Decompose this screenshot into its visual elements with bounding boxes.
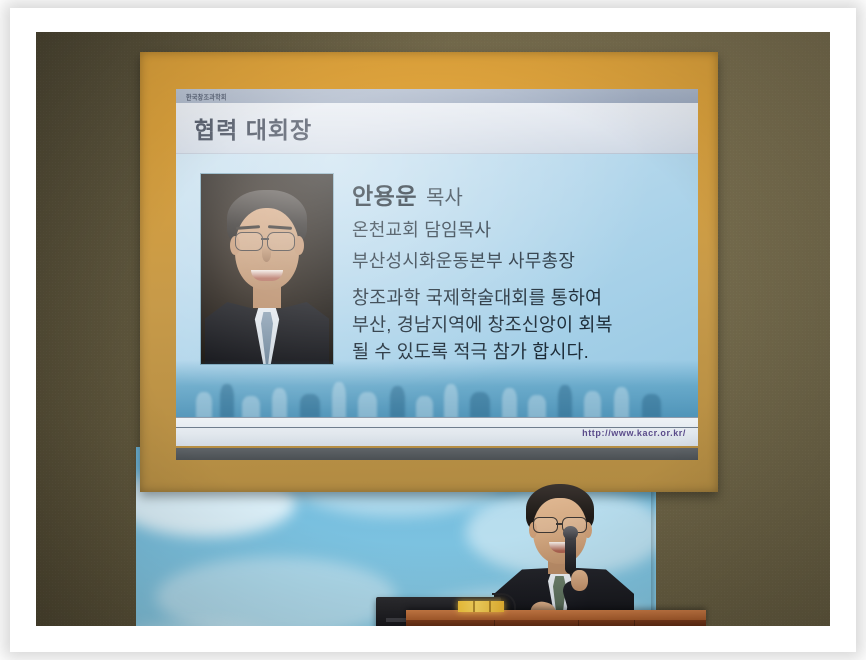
slide-name-block: 안용운 목사 온천교회 담임목사 부산성시화운동본부 사무총장 <box>352 177 684 273</box>
wooden-podium <box>406 610 706 626</box>
podium-panel-seam <box>578 620 579 626</box>
slide-footer: http://www.kacr.or.kr/ <box>176 417 698 446</box>
podium-top-surface <box>406 610 706 620</box>
portrait-eyeglasses <box>267 232 295 251</box>
speaker-hand <box>571 570 588 591</box>
photo-frame: 한국창조과학회 협력 대회장 <box>0 0 866 660</box>
podium-panel-seam <box>634 620 635 626</box>
screen-bottom-bar <box>176 448 698 460</box>
podium-indicator-lights <box>458 601 504 612</box>
body-line: 부산, 경남지역에 창조신앙이 회복 <box>352 312 690 339</box>
body-line: 창조과학 국제학술대회를 통하여 <box>352 285 690 312</box>
footer-url: http://www.kacr.or.kr/ <box>582 428 686 438</box>
portrait-glasses-bridge <box>261 238 269 240</box>
person-affiliation-2: 부산성시화운동본부 사무총장 <box>352 247 684 273</box>
portrait-nose <box>262 246 271 262</box>
name-row: 안용운 목사 <box>352 177 684 211</box>
portrait-photo <box>200 173 334 365</box>
crowd-silhouette-band <box>176 360 698 418</box>
podium-panel-seam <box>494 620 495 626</box>
speaker-glasses-bridge <box>556 523 562 525</box>
slide-title: 협력 대회장 <box>194 111 312 145</box>
speaker-eyeglasses <box>533 517 558 533</box>
person-honorific: 목사 <box>426 181 463 210</box>
portrait-eyeglasses <box>235 232 263 251</box>
organization-logo-text: 한국창조과학회 <box>186 91 227 101</box>
slide-body-block: 창조과학 국제학술대회를 통하여 부산, 경남지역에 창조신앙이 회복 될 수 … <box>352 285 690 365</box>
microphone-head-icon <box>563 526 578 540</box>
portrait-ear <box>294 236 304 255</box>
person-affiliation-1: 온천교회 담임목사 <box>352 216 684 242</box>
person-name: 안용운 <box>352 177 417 211</box>
slide-logo-bar: 한국창조과학회 <box>176 89 698 103</box>
projection-screen-surface: 한국창조과학회 협력 대회장 <box>176 89 698 446</box>
slide-title-bar: 협력 대회장 <box>176 103 698 154</box>
presentation-slide: 한국창조과학회 협력 대회장 <box>176 89 698 446</box>
cloud-shape <box>156 557 396 626</box>
projection-screen-frame: 한국창조과학회 협력 대회장 <box>140 52 718 492</box>
photograph: 한국창조과학회 협력 대회장 <box>36 32 830 626</box>
